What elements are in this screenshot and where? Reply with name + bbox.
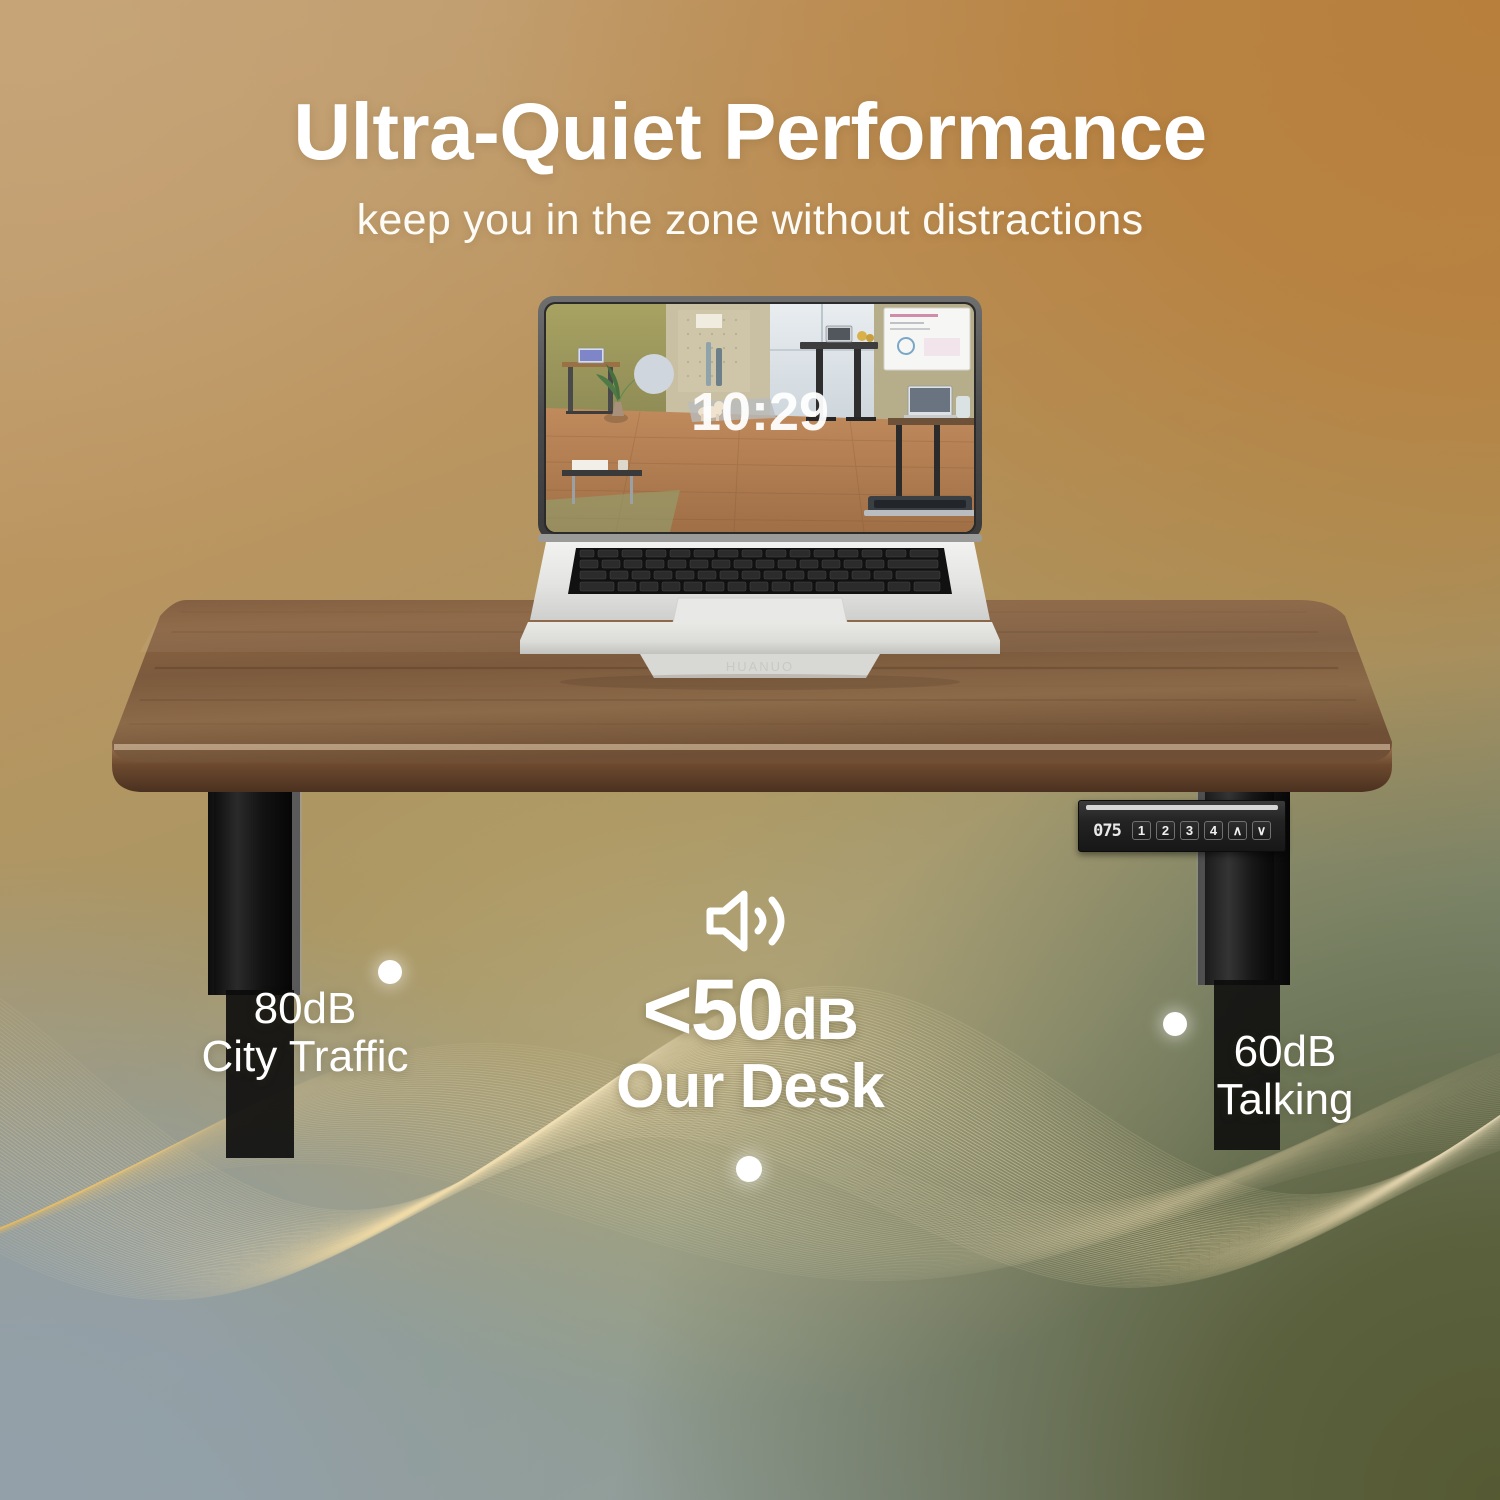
chevron-up-icon[interactable]: ∧ bbox=[1228, 821, 1247, 840]
scene-treadmill bbox=[864, 496, 976, 516]
callout-center-value: <50 bbox=[642, 968, 782, 1052]
brand-logo-text: HUANUO bbox=[726, 659, 794, 674]
speaker-wave-icon bbox=[560, 885, 940, 962]
callout-left-value: 80dB bbox=[190, 985, 420, 1033]
callout-right-label: Talking bbox=[1185, 1076, 1385, 1124]
header-block: Ultra-Quiet Performance keep you in the … bbox=[0, 0, 1500, 245]
callout-right-value: 60dB bbox=[1185, 1028, 1385, 1076]
preset-button-2[interactable]: 2 bbox=[1156, 821, 1175, 840]
preset-button-3[interactable]: 3 bbox=[1180, 821, 1199, 840]
laptop-clock-text: 10:29 bbox=[691, 382, 829, 442]
marker-dot-city-traffic bbox=[378, 960, 402, 984]
desk-control-panel[interactable]: 075 1 2 3 4 ∧ ∨ bbox=[1078, 800, 1286, 852]
callout-left-label: City Traffic bbox=[190, 1033, 420, 1081]
height-display: 075 bbox=[1087, 821, 1127, 841]
preset-button-4[interactable]: 4 bbox=[1204, 821, 1223, 840]
marker-dot-talking bbox=[1163, 1012, 1187, 1036]
page-subtitle: keep you in the zone without distraction… bbox=[0, 196, 1500, 245]
marketing-image: Ultra-Quiet Performance keep you in the … bbox=[0, 0, 1500, 1500]
callout-talking: 60dB Talking bbox=[1185, 1028, 1385, 1124]
callout-center-unit: dB bbox=[782, 992, 857, 1049]
laptop-stand bbox=[520, 622, 1000, 654]
page-title: Ultra-Quiet Performance bbox=[0, 92, 1500, 172]
scene-exercise-ball bbox=[634, 354, 674, 394]
preset-button-1[interactable]: 1 bbox=[1132, 821, 1151, 840]
marker-dot-our-desk bbox=[736, 1156, 762, 1182]
callout-city-traffic: 80dB City Traffic bbox=[190, 985, 420, 1081]
callout-center-label: Our Desk bbox=[560, 1054, 940, 1119]
laptop-shadow bbox=[560, 674, 960, 690]
callout-our-desk: <50dB Our Desk bbox=[560, 885, 940, 1119]
laptop-on-stand: 10:29 bbox=[520, 290, 1000, 690]
chevron-down-icon[interactable]: ∨ bbox=[1252, 821, 1271, 840]
